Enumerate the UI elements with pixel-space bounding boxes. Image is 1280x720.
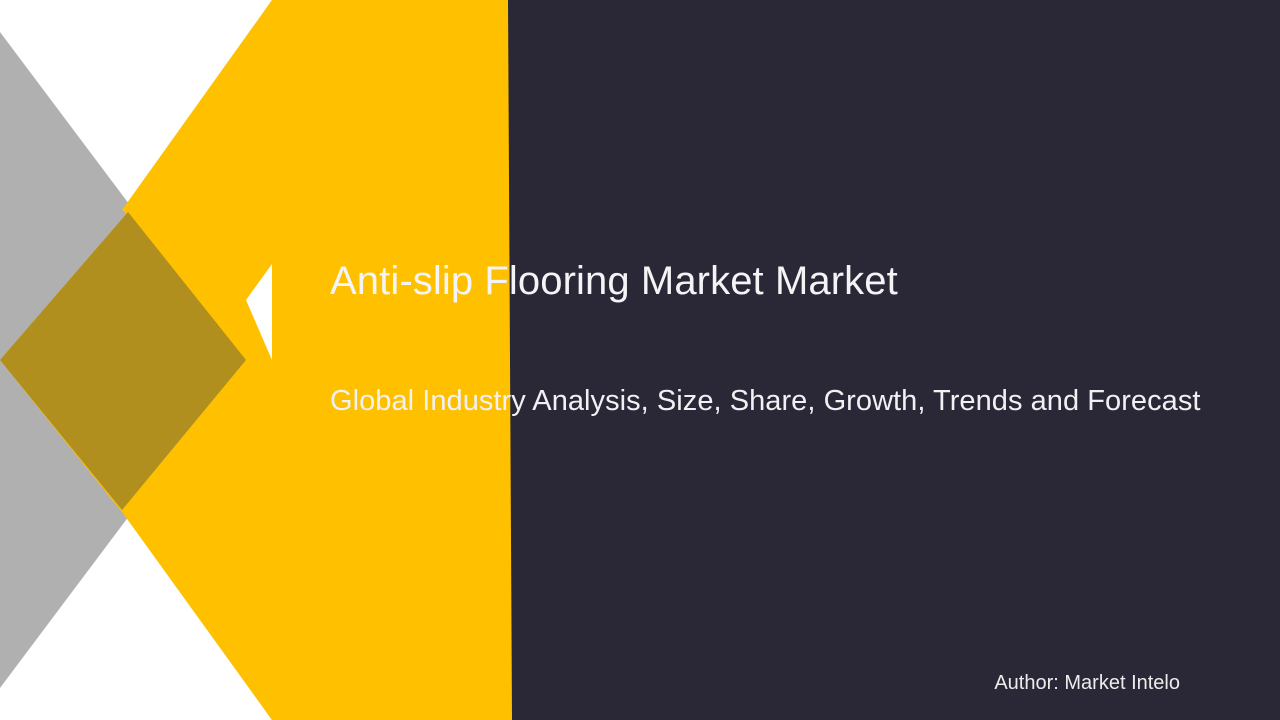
title-block: Anti-slip Flooring Market Market (330, 258, 1230, 305)
subtitle-block: Global Industry Analysis, Size, Share, G… (330, 384, 1260, 419)
title-slide: Anti-slip Flooring Market Market Global … (0, 0, 1280, 720)
slide-content: Anti-slip Flooring Market Market Global … (0, 0, 1280, 720)
page-subtitle: Global Industry Analysis, Size, Share, G… (330, 384, 1260, 419)
author-block: Author: Market Intelo (994, 672, 1180, 695)
author-label: Author: Market Intelo (994, 672, 1180, 695)
page-title: Anti-slip Flooring Market Market (330, 258, 1230, 305)
